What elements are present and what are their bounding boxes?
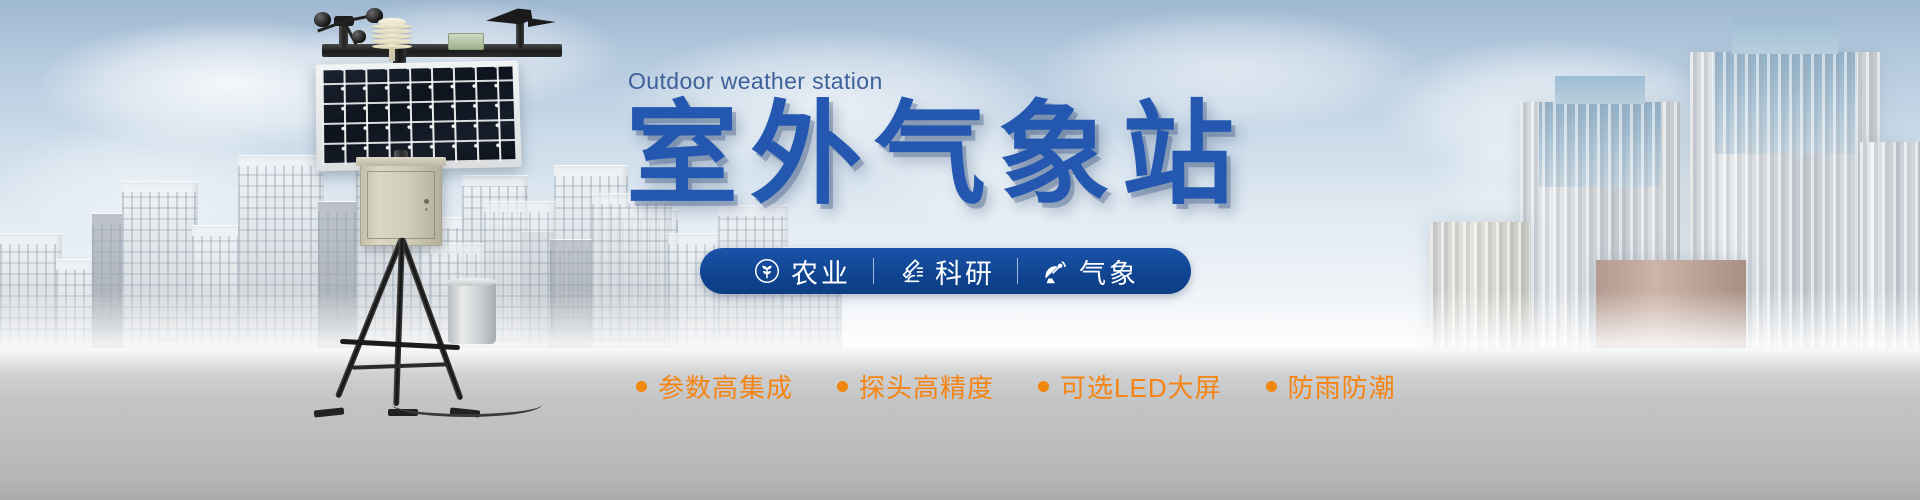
sprout-circle-icon (752, 256, 782, 286)
category-meteorology[interactable]: 气象 (1018, 252, 1161, 291)
feature-item: 探头高精度 (837, 368, 994, 405)
microscope-icon (896, 256, 926, 286)
feature-item: 参数高集成 (636, 368, 793, 405)
category-agriculture[interactable]: 农业 (730, 252, 873, 291)
bullet-dot-icon (1266, 381, 1277, 392)
weather-station-product (300, 0, 580, 420)
power-cable (392, 392, 542, 417)
building-right-brick (1596, 260, 1746, 352)
category-label: 气象 (1079, 252, 1139, 291)
eyebrow-text: Outdoor weather station (628, 68, 883, 95)
tower-flutes (1860, 142, 1920, 352)
category-label: 科研 (935, 252, 995, 291)
category-research[interactable]: 科研 (874, 252, 1017, 291)
radiation-shield (372, 23, 412, 47)
solar-panel (316, 60, 522, 171)
feature-list: 参数高集成 探头高精度 可选LED大屏 防雨防潮 (636, 368, 1396, 405)
feature-label: 可选LED大屏 (1060, 368, 1222, 405)
tower-flutes (1430, 222, 1530, 352)
bullet-dot-icon (1038, 381, 1049, 392)
sensor-junction-box (448, 33, 484, 50)
bullet-dot-icon (837, 381, 848, 392)
tripod-foot (314, 407, 345, 417)
satellite-dish-icon (1040, 256, 1070, 286)
product-banner: Outdoor weather station 室外气象站 农业 (0, 0, 1920, 500)
tower-crown (1555, 76, 1645, 104)
skyscraper-right-low (1430, 222, 1530, 352)
control-cabinet (360, 162, 442, 246)
page-title: 室外气象站 (626, 96, 1246, 215)
feature-label: 防雨防潮 (1288, 368, 1396, 405)
tower-crown (1732, 18, 1838, 54)
category-label: 农业 (791, 252, 851, 291)
feature-item: 防雨防潮 (1266, 368, 1396, 405)
cabinet-door (367, 171, 435, 239)
tripod-stand (300, 238, 500, 416)
category-badge-bar: 农业 科研 (700, 248, 1191, 294)
crossarm (322, 44, 562, 57)
bullet-dot-icon (636, 381, 647, 392)
feature-item: 可选LED大屏 (1038, 368, 1222, 405)
feature-label: 参数高集成 (658, 368, 793, 405)
tripod-leg (399, 237, 463, 401)
cabinet-lock-icon (424, 199, 429, 204)
skyscraper-right-far (1860, 142, 1920, 352)
feature-label: 探头高精度 (859, 368, 994, 405)
solar-cells (322, 66, 516, 165)
